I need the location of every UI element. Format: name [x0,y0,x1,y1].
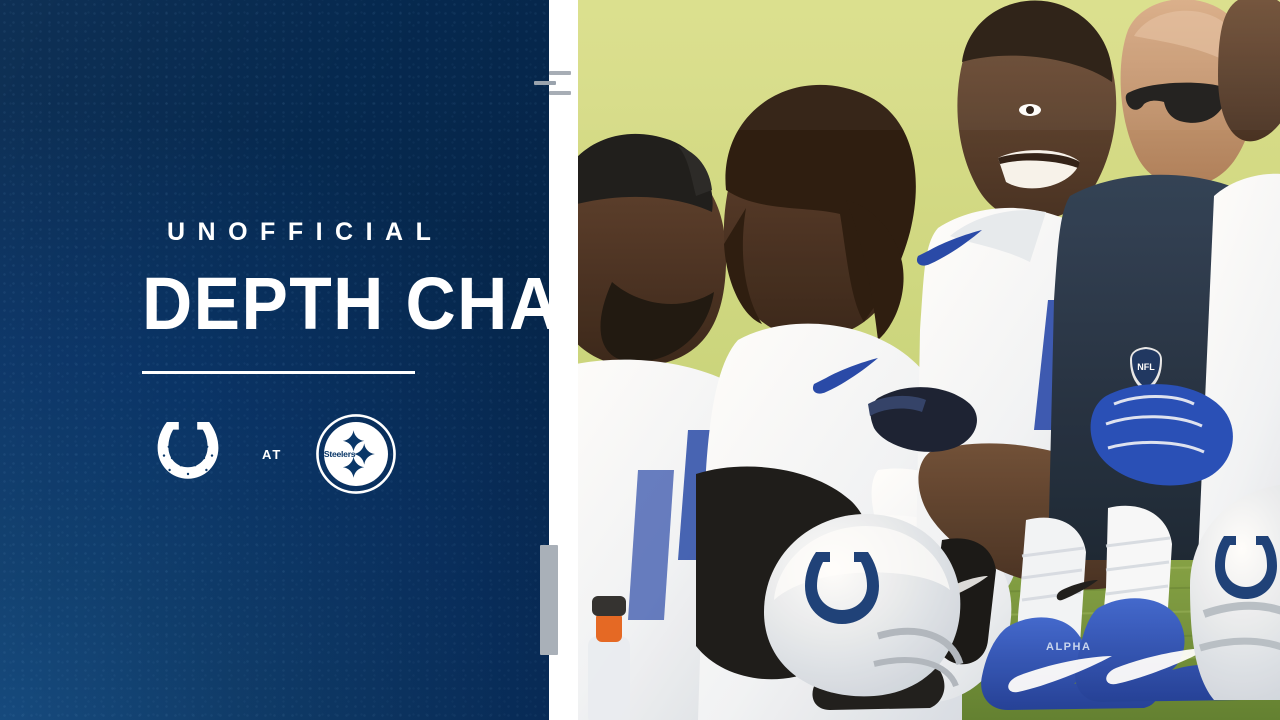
away-team-logo-slot: Steelers [310,408,402,500]
menu-line-2 [534,81,556,85]
title-panel: UNOFFICIAL DEPTH CHART [0,0,549,720]
menu-line-1 [549,71,571,75]
menu-line-3 [549,91,571,95]
title-divider [142,371,415,374]
panel-content: UNOFFICIAL DEPTH CHART [142,0,502,720]
hamburger-menu-icon[interactable] [549,70,575,96]
home-team-logo-slot [142,408,234,500]
page-title: DEPTH CHART [142,267,549,341]
matchup-row: AT Steelers [142,408,402,500]
team-photo: NFL [578,0,1280,720]
matchup-separator: AT [262,448,282,461]
steelers-wordmark: Steelers [324,449,356,459]
vertical-scrollbar-thumb[interactable] [540,545,558,655]
steelers-logo-icon: Steelers [315,413,397,495]
depth-chart-graphic: UNOFFICIAL DEPTH CHART [0,0,1280,720]
colts-horseshoe-icon [148,414,228,494]
eyebrow-label: UNOFFICIAL [155,220,443,245]
